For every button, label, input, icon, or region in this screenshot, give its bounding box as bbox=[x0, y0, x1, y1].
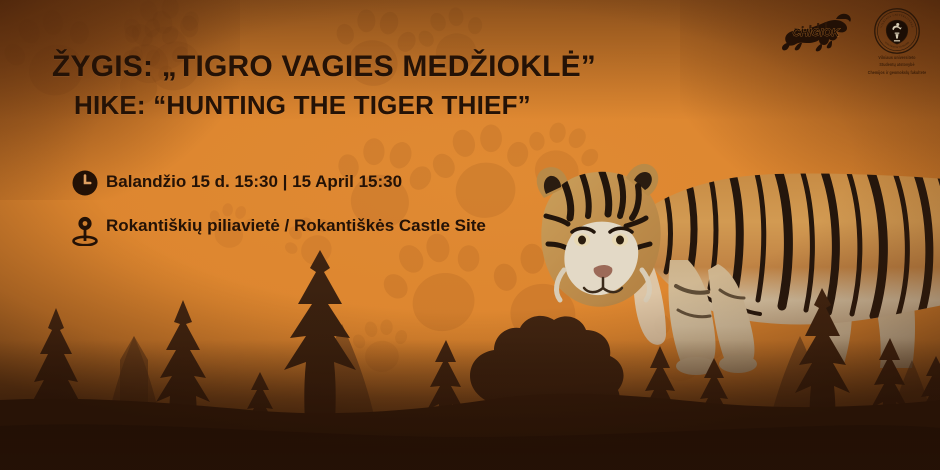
logo-group: CHIGIOK VILNIAUS UNIVERSITETAS bbox=[780, 8, 928, 76]
event-time-text: Balandžio 15 d. 15:30 | 15 April 15:30 bbox=[102, 168, 402, 192]
vilnius-university-seal-icon: VILNIAUS UNIVERSITETAS UNIVERSITAS VILNE… bbox=[874, 8, 920, 54]
event-place-text: Rokantiškių piliavietė / Rokantiškės Cas… bbox=[102, 212, 486, 236]
title-lithuanian: ŽYGIS: „TIGRO VAGIES MEDŽIOKLĖ” bbox=[52, 50, 752, 84]
title-english: HIKE: “HUNTING THE TIGER THIEF” bbox=[74, 91, 752, 120]
event-time-row: Balandžio 15 d. 15:30 | 15 April 15:30 bbox=[68, 168, 588, 200]
event-place-row: Rokantiškių piliavietė / Rokantiškės Cas… bbox=[68, 212, 588, 248]
clock-icon bbox=[68, 166, 102, 200]
tiger-logo-icon[interactable]: CHIGIOK bbox=[780, 8, 852, 52]
vu-logo-caption-3: Chemijos ir geomokslų fakultete bbox=[866, 70, 928, 77]
map-pin-icon bbox=[68, 214, 102, 248]
vu-logo-caption-2: Studentų atstovybė bbox=[866, 63, 928, 70]
tiger-logo-wordmark: CHIGIOK bbox=[792, 27, 840, 39]
vu-logo-caption-1: Vilniaus universiteto bbox=[866, 55, 928, 62]
event-details: Balandžio 15 d. 15:30 | 15 April 15:30 R… bbox=[68, 168, 588, 260]
event-poster: ŽYGIS: „TIGRO VAGIES MEDŽIOKLĖ” HIKE: “H… bbox=[0, 0, 940, 470]
vilnius-university-logo[interactable]: VILNIAUS UNIVERSITETAS UNIVERSITAS VILNE… bbox=[866, 8, 928, 76]
headline-block: ŽYGIS: „TIGRO VAGIES MEDŽIOKLĖ” HIKE: “H… bbox=[52, 50, 752, 120]
